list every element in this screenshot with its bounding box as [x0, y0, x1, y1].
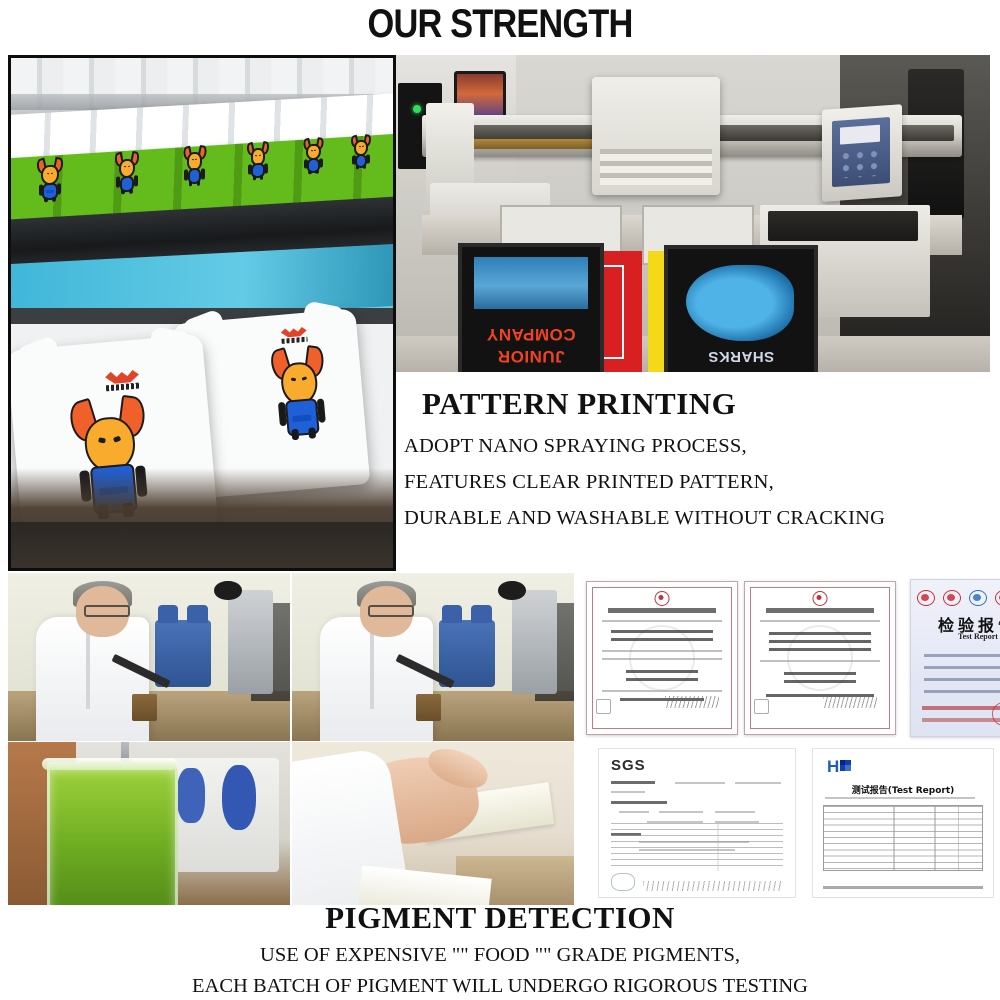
certificates-row-top: 检验报告 Test Report [580, 573, 1000, 741]
bull-mascot-icon [247, 141, 269, 180]
certificate-seal-icon [655, 591, 670, 606]
lab-scene [292, 573, 574, 741]
control-panel-housing [822, 104, 902, 202]
sgs-signature [643, 881, 781, 891]
beaker-rim [42, 758, 177, 769]
pattern-printing-heading: PATTERN PRINTING [422, 386, 1000, 422]
table-edge [11, 522, 393, 568]
sgs-logo: SGS [611, 757, 646, 774]
shirt-print-text: JUNIOR COMPANY [470, 321, 592, 367]
signature-line [823, 696, 877, 708]
certificate-stamp-icon [754, 699, 769, 714]
pattern-printing-line-3: DURABLE AND WASHABLE WITHOUT CRACKING [404, 507, 1000, 530]
sgs-test-report: SGS [598, 748, 796, 898]
test-report-title-en: Test Report [911, 632, 1000, 641]
beaker-green-liquid [47, 762, 177, 905]
issuer-line-2 [922, 718, 1000, 722]
photo-green-pigment-beaker [8, 742, 290, 905]
lcd-screen [840, 125, 880, 145]
lab-stand [512, 590, 557, 694]
printed-black-tshirt-junior-company: JUNIOR COMPANY [458, 243, 604, 372]
pigment-detection-line-2: EACH BATCH OF PIGMENT WILL UNDERGO RIGOR… [0, 975, 1000, 998]
signature-line [665, 696, 719, 708]
iso-certificate-right [744, 581, 896, 735]
pattern-printing-line-1: ADOPT NANO SPRAYING PROCESS, [404, 435, 1000, 458]
safety-glasses-icon [368, 605, 414, 617]
pattern-printing-text-block: PATTERN PRINTING ADOPT NANO SPRAYING PRO… [404, 386, 1000, 530]
h-results-table [823, 805, 983, 871]
sample-bottle [132, 694, 157, 721]
keypad-buttons[interactable] [840, 148, 882, 179]
test-report-certificate: 检验报告 Test Report [910, 579, 1000, 737]
shirt-print-text: SHARKS [676, 321, 806, 367]
bull-mascot-icon [351, 134, 371, 169]
h-test-report: H 测试报告(Test Report) [812, 748, 994, 898]
sample-bottle [416, 694, 441, 721]
photo-lab-technician-left [8, 573, 290, 741]
safety-glasses-icon [84, 605, 130, 617]
certification-seals-row [917, 590, 1000, 606]
certificate-title-line [608, 608, 716, 613]
blue-clamp-1 [177, 768, 205, 823]
blue-clamp-2 [222, 765, 256, 830]
print-artwork [474, 257, 588, 309]
h-report-footnote [823, 886, 983, 889]
page-title: OUR STRENGTH [70, 2, 930, 47]
quality-seal-icon [995, 590, 1000, 606]
lab-stand [228, 590, 273, 694]
photo-conveyor-printed-tshirts [8, 55, 396, 571]
bull-mascot-icon [37, 157, 63, 203]
issuer-line-1 [922, 706, 1000, 710]
certificate-stamp-icon [596, 699, 611, 714]
lab-scene [8, 573, 290, 741]
h-report-title: 测试报告(Test Report) [813, 783, 993, 796]
iso-certificate-left [586, 581, 738, 735]
pigment-detection-line-1: USE OF EXPENSIVE "" FOOD "" GRADE PIGMEN… [0, 944, 1000, 967]
ccc-seal-icon [943, 590, 961, 606]
bull-mascot-icon [303, 137, 324, 174]
bull-mascot-icon [115, 151, 139, 195]
h-logo: H [827, 757, 851, 777]
bull-mascot-icon [270, 345, 330, 441]
control-panel[interactable] [832, 117, 890, 187]
test-reports-row-bottom: SGS H 测试报告(Test Report) [580, 742, 1000, 905]
pigment-detection-text-block: PIGMENT DETECTION USE OF EXPENSIVE "" FO… [0, 900, 1000, 998]
print-head-carriage [592, 77, 720, 195]
sgs-results-table [611, 823, 783, 871]
sgs-seal-icon [969, 590, 987, 606]
brand-logo-icon [280, 327, 307, 344]
photo-lab-technician-right [292, 573, 574, 741]
photo-hand-holding-sample [292, 742, 574, 905]
pattern-printing-line-2: FEATURES CLEAR PRINTED PATTERN, [404, 471, 1000, 494]
photo-dtg-flatbed-printer: JUNIOR COMPANY SHARKS [396, 55, 990, 372]
bull-mascot-icon [183, 145, 206, 186]
pigment-detection-heading: PIGMENT DETECTION [0, 900, 1000, 936]
sgs-stamp-icon [611, 873, 635, 891]
infographic-page: OUR STRENGTH [0, 0, 1000, 1000]
brand-logo-icon [105, 369, 141, 392]
printed-black-tshirt-sharks: SHARKS [664, 245, 818, 372]
cqc-seal-icon [917, 590, 935, 606]
certificate-seal-icon [813, 591, 828, 606]
certificate-title-line [766, 608, 874, 613]
